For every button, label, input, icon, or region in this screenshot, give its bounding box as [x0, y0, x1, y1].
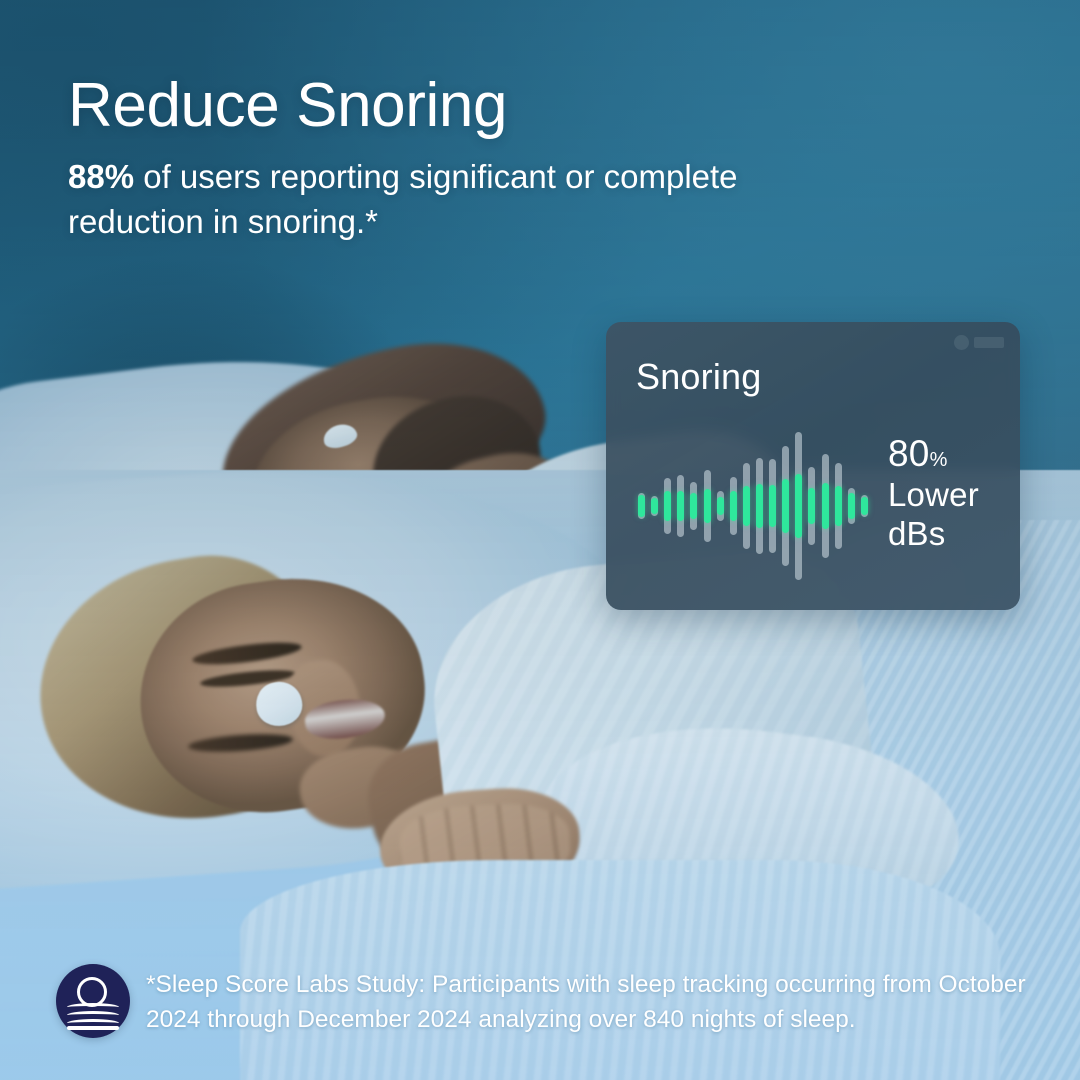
logo-wave-3: [67, 1019, 119, 1024]
waveform-bar: [677, 475, 684, 537]
stat-label-line2: dBs: [888, 515, 1008, 554]
waveform-bar: [664, 478, 671, 534]
disclaimer-text: *Sleep Score Labs Study: Participants wi…: [146, 968, 1036, 1038]
waveform-bar: [730, 477, 737, 535]
waveform-bar: [651, 496, 658, 516]
waveform-bar: [638, 493, 645, 519]
subheadline-text: of users reporting significant or comple…: [68, 158, 738, 240]
ad-creative-stage: Reduce Snoring 88% of users reporting si…: [0, 0, 1080, 1080]
stat-value-row: 80%: [888, 432, 1008, 476]
waveform-bar-active-segment: [782, 479, 789, 533]
waveform-bar: [861, 495, 868, 517]
watermark-bar: [974, 337, 1004, 348]
logo-wave-1: [67, 1003, 119, 1008]
waveform-bar-active-segment: [690, 493, 697, 519]
stat-block: 80% Lower dBs: [888, 432, 1008, 554]
waveform-bar-active-segment: [769, 485, 776, 527]
waveform-bar: [743, 463, 750, 549]
waveform-bar: [756, 458, 763, 554]
logo-wave-2: [67, 1011, 119, 1016]
waveform-bar-active-segment: [677, 491, 684, 521]
page-title: Reduce Snoring: [68, 70, 507, 141]
watermark-dot: [954, 335, 969, 350]
waveform-bar-active-segment: [822, 483, 829, 529]
waveform-bar: [690, 482, 697, 530]
waveform-bar-active-segment: [638, 495, 645, 517]
card-title: Snoring: [636, 356, 761, 398]
waveform-bar-active-segment: [756, 484, 763, 528]
logo-wave-4: [67, 1026, 119, 1030]
waveform-bar-active-segment: [704, 489, 711, 523]
footer: *Sleep Score Labs Study: Participants wi…: [0, 960, 1080, 1080]
waveform-bar: [769, 459, 776, 553]
waveform-bar: [822, 454, 829, 558]
stat-label-line1: Lower: [888, 476, 1008, 515]
waveform-bar-active-segment: [808, 488, 815, 524]
waveform-bar-active-segment: [861, 497, 868, 515]
snoring-waveform-chart: [638, 426, 868, 586]
sleep-brand-logo-icon: [56, 964, 130, 1038]
waveform-bar: [704, 470, 711, 542]
snoring-metric-card[interactable]: Snoring 80% Lower dBs: [606, 322, 1020, 610]
waveform-bar: [835, 463, 842, 549]
stat-unit: %: [930, 449, 948, 471]
waveform-bar-active-segment: [664, 491, 671, 521]
subheadline: 88% of users reporting significant or co…: [68, 155, 748, 244]
waveform-bar-active-segment: [743, 486, 750, 526]
waveform-bar-active-segment: [835, 486, 842, 526]
waveform-bar-active-segment: [795, 474, 802, 538]
waveform-bar: [848, 488, 855, 524]
waveform-bar-active-segment: [730, 491, 737, 521]
waveform-bar: [782, 446, 789, 566]
stat-value: 80: [888, 433, 930, 474]
waveform-bar-active-segment: [848, 493, 855, 519]
waveform-bar-active-segment: [651, 498, 658, 514]
waveform-bar: [795, 432, 802, 580]
waveform-bar: [808, 467, 815, 545]
stat-percentage: 88%: [68, 158, 134, 195]
waveform-bar-active-segment: [717, 497, 724, 515]
waveform-bar: [717, 491, 724, 521]
brand-watermark-icon: [954, 334, 1006, 352]
